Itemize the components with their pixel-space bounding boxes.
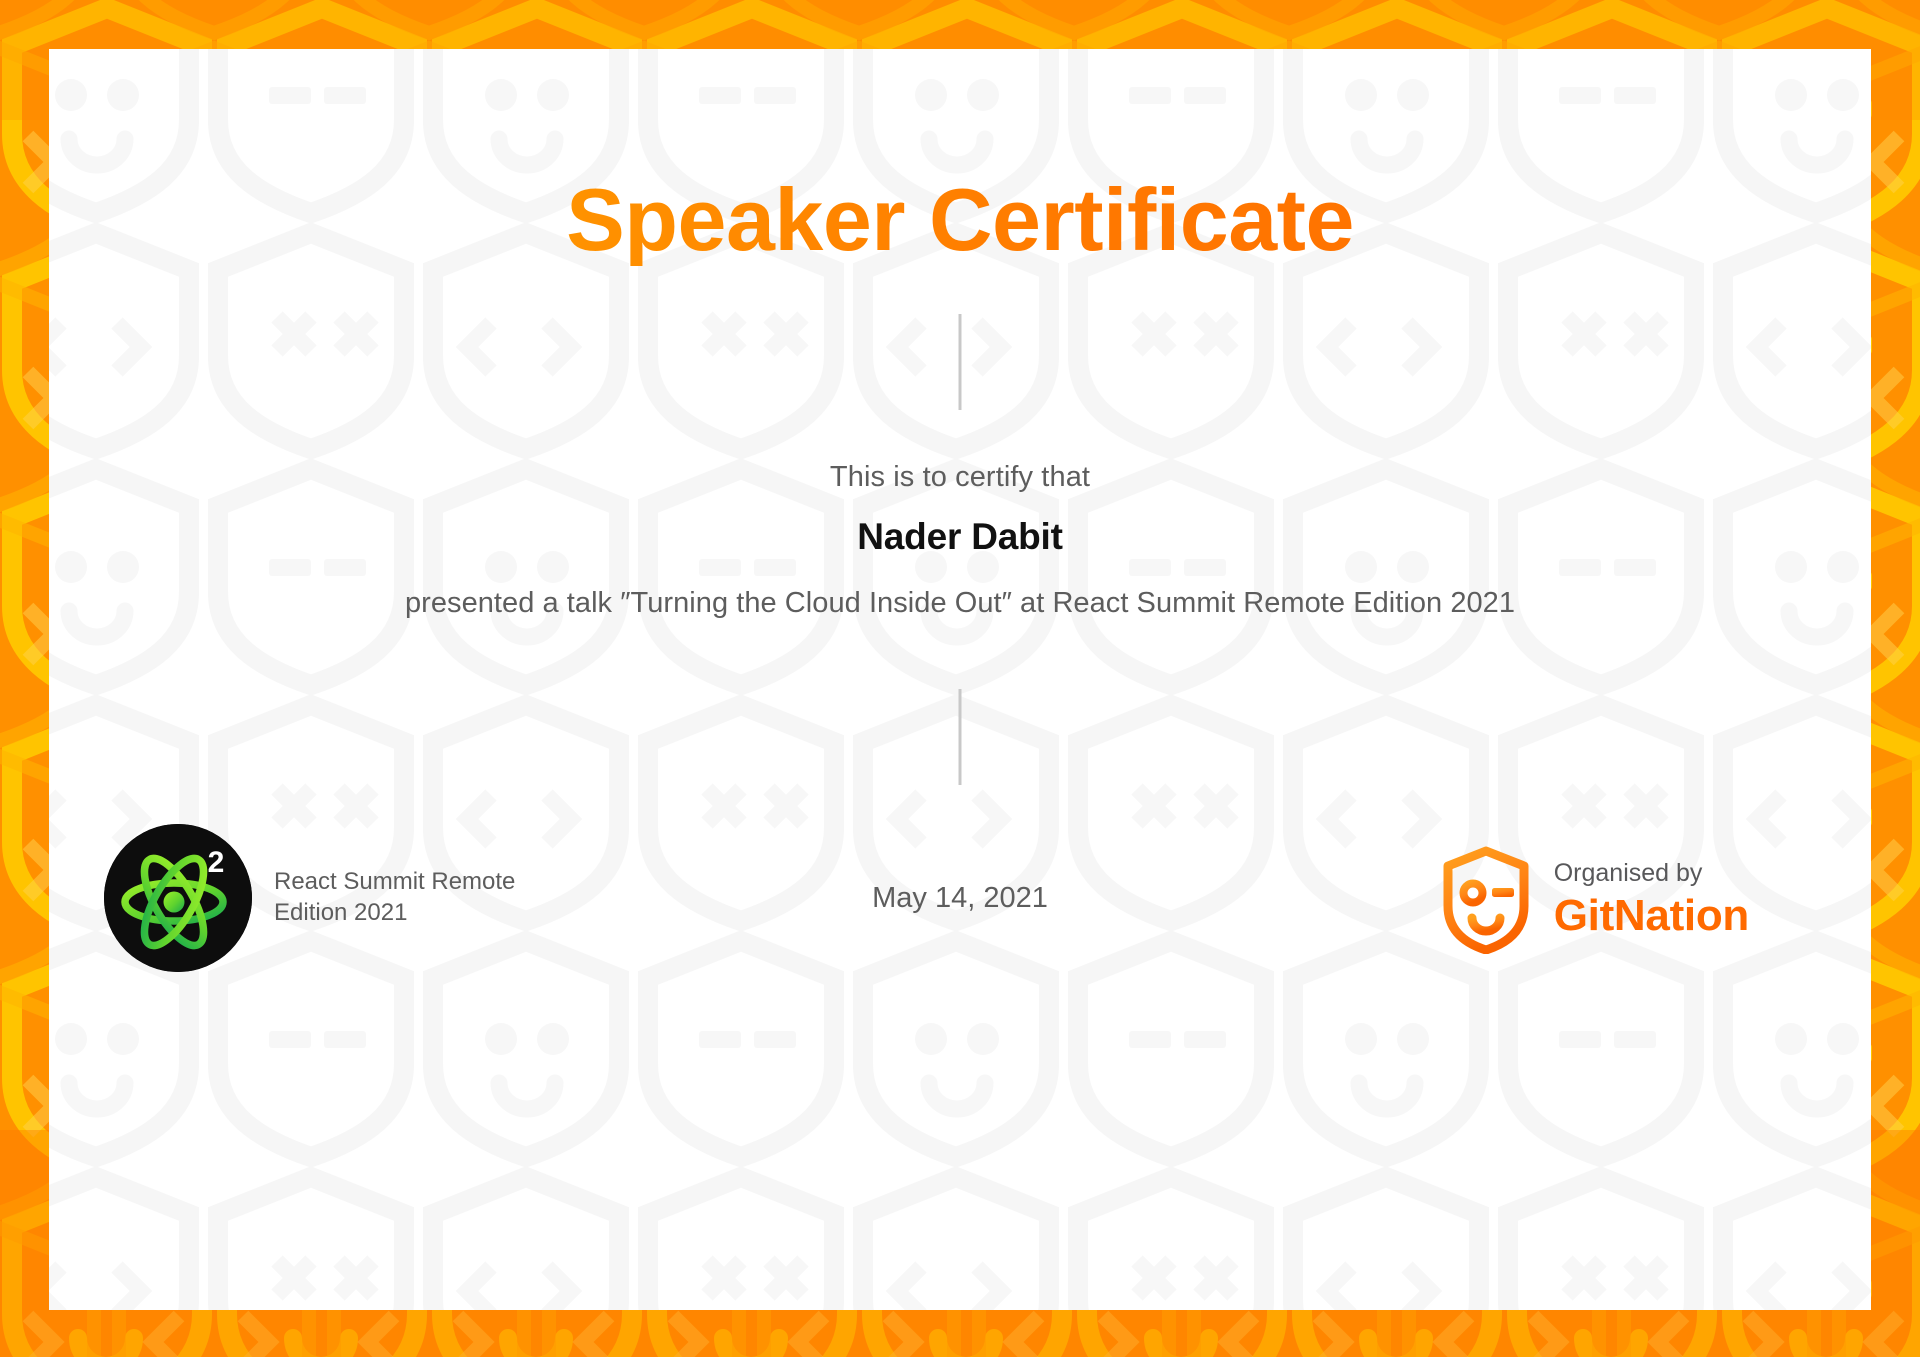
event-block: 2 React Summit Remote Edition 2021: [104, 824, 524, 972]
certificate-footer: 2 React Summit Remote Edition 2021 May 1…: [49, 824, 1871, 1004]
event-name: React Summit Remote Edition 2021: [274, 867, 524, 928]
certificate-card: Speaker Certificate This is to certify t…: [49, 49, 1871, 1310]
organiser-name: GitNation: [1554, 892, 1749, 940]
page-title: Speaker Certificate: [49, 174, 1871, 266]
talk-description: presented a talk ″Turning the Cloud Insi…: [179, 583, 1741, 623]
certify-line: This is to certify that: [49, 461, 1871, 494]
divider-top: [959, 314, 962, 410]
organiser-label: Organised by: [1554, 860, 1749, 888]
organiser-block: Organised by GitNation: [1440, 846, 1749, 954]
recipient-name: Nader Dabit: [49, 516, 1871, 558]
gitnation-shield-icon: [1440, 846, 1532, 954]
issue-date: May 14, 2021: [872, 882, 1048, 915]
react-atom-logo-icon: 2: [104, 824, 252, 972]
speaker-certificate: Speaker Certificate This is to certify t…: [0, 0, 1920, 1357]
divider-bottom: [959, 689, 962, 785]
svg-text:2: 2: [208, 846, 225, 879]
